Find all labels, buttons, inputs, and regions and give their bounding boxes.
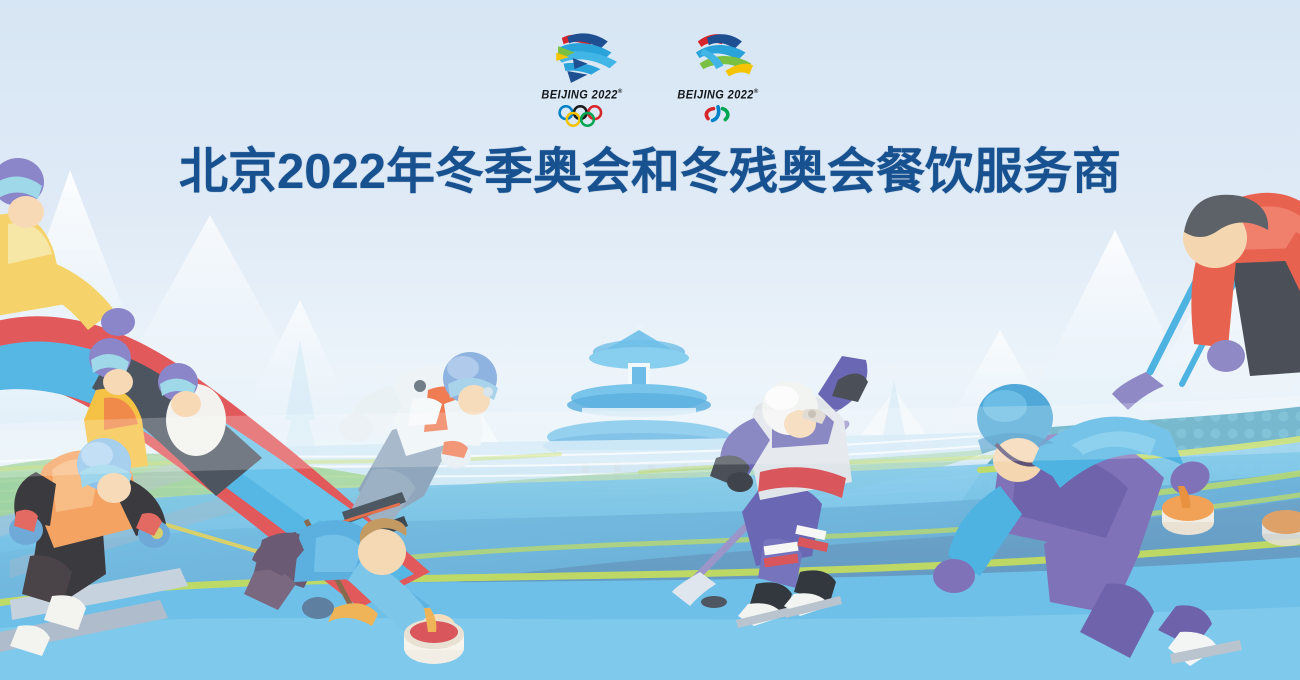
olympic-wordmark: BEIJING 2022®	[541, 88, 622, 101]
curling-stone-orange-2	[1262, 510, 1300, 546]
page-title: 北京2022年冬季奥会和冬残奥会餐饮服务商	[0, 148, 1300, 197]
paralympic-wordmark: BEIJING 2022®	[677, 88, 758, 101]
paralympic-flying-high-mark	[672, 30, 764, 88]
paralympic-emblem: BEIJING 2022®	[672, 30, 764, 125]
beijing-2022-banner: BEIJING 2022® BEIJING 2022®	[0, 0, 1300, 680]
paralympic-agitos-icon	[698, 105, 738, 125]
olympic-emblem: BEIJING 2022®	[536, 30, 628, 127]
olympic-rings-icon	[553, 105, 611, 127]
olympic-winter-dream-mark	[536, 30, 628, 88]
emblem-row: BEIJING 2022® BEIJING 2022®	[0, 30, 1300, 127]
